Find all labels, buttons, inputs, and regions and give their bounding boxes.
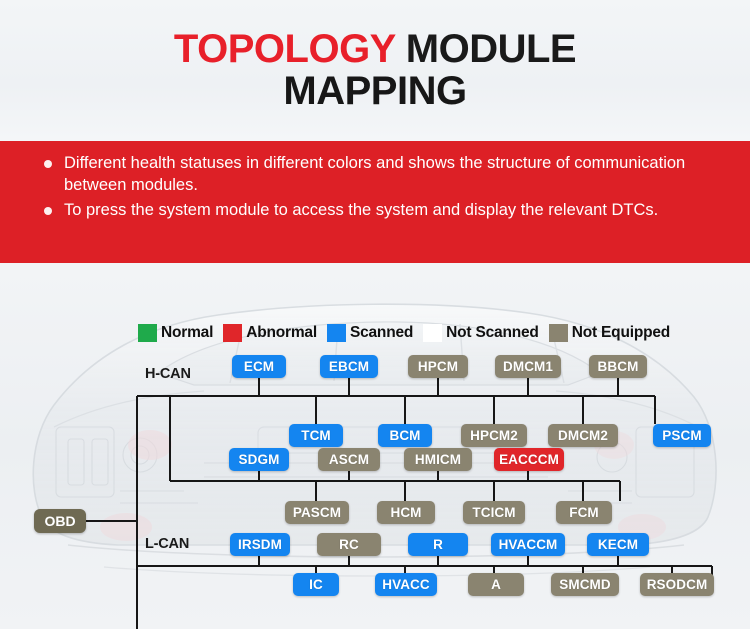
banner-bullet-1-text: Different health statuses in different c… (64, 154, 685, 194)
module-node-hcm[interactable]: HCM (377, 501, 435, 524)
module-node-rsodcm[interactable]: RSODCM (640, 573, 714, 596)
module-node-ic[interactable]: IC (293, 573, 339, 596)
bullet-dot-icon (44, 207, 52, 215)
title-highlight: TOPOLOGY (174, 27, 395, 71)
legend-item-not-equipped: Not Equipped (549, 324, 670, 342)
module-node-smcmd[interactable]: SMCMD (551, 573, 619, 596)
topology-module-mapping-page: TOPOLOGY MODULE MAPPING Different health… (0, 0, 750, 629)
banner-bullet-1: Different health statuses in different c… (44, 153, 716, 197)
module-node-dmcm2[interactable]: DMCM2 (548, 424, 618, 447)
module-node-hpcm2[interactable]: HPCM2 (461, 424, 527, 447)
module-node-sdgm[interactable]: SDGM (229, 448, 289, 471)
page-title-line-1: TOPOLOGY MODULE (174, 29, 576, 70)
module-node-ecm[interactable]: ECM (232, 355, 286, 378)
module-node-eacccm[interactable]: EACCCM (494, 448, 564, 471)
bus-label-l-can: L-CAN (145, 536, 189, 552)
module-node-a[interactable]: A (468, 573, 524, 596)
module-node-rc[interactable]: RC (317, 533, 381, 556)
module-node-hpcm[interactable]: HPCM (408, 355, 468, 378)
legend-label-normal: Normal (161, 324, 213, 342)
legend-swatch-normal (138, 324, 157, 342)
description-banner: Different health statuses in different c… (0, 141, 750, 263)
bullet-dot-icon (44, 160, 52, 168)
legend-item-normal: Normal (138, 324, 213, 342)
title-rest: MODULE (395, 27, 576, 71)
legend-item-not-scanned: Not Scanned (423, 324, 539, 342)
module-node-hvacc[interactable]: HVACC (375, 573, 437, 596)
legend-label-not-scanned: Not Scanned (446, 324, 539, 342)
module-node-ebcm[interactable]: EBCM (320, 355, 378, 378)
module-node-fcm[interactable]: FCM (556, 501, 612, 524)
legend-swatch-not-scanned (423, 324, 442, 342)
module-node-kecm[interactable]: KECM (587, 533, 649, 556)
legend-label-scanned: Scanned (350, 324, 413, 342)
legend-label-abnormal: Abnormal (246, 324, 317, 342)
obd-connector-node[interactable]: OBD (34, 509, 86, 533)
module-node-r[interactable]: R (408, 533, 468, 556)
module-node-hvaccm[interactable]: HVACCM (491, 533, 565, 556)
module-node-pascm[interactable]: PASCM (285, 501, 349, 524)
legend-item-abnormal: Abnormal (223, 324, 317, 342)
banner-bullet-2-text: To press the system module to access the… (64, 201, 658, 219)
module-node-bcm[interactable]: BCM (378, 424, 432, 447)
legend-label-not-equipped: Not Equipped (572, 324, 670, 342)
legend-swatch-abnormal (223, 324, 242, 342)
status-legend: Normal Abnormal Scanned Not Scanned Not … (138, 323, 680, 343)
module-node-pscm[interactable]: PSCM (653, 424, 711, 447)
banner-bullet-2: To press the system module to access the… (44, 200, 716, 222)
legend-item-scanned: Scanned (327, 324, 413, 342)
bus-label-h-can: H-CAN (145, 366, 191, 382)
module-node-ascm[interactable]: ASCM (318, 448, 380, 471)
module-node-tcicm[interactable]: TCICM (463, 501, 525, 524)
module-node-bbcm[interactable]: BBCM (589, 355, 647, 378)
topology-diagram: Normal Abnormal Scanned Not Scanned Not … (0, 263, 750, 629)
legend-swatch-not-equipped (549, 324, 568, 342)
page-title-line-2: MAPPING (283, 70, 466, 112)
module-node-tcm[interactable]: TCM (289, 424, 343, 447)
module-node-irsdm[interactable]: IRSDM (230, 533, 290, 556)
module-node-hmicm[interactable]: HMICM (404, 448, 472, 471)
legend-swatch-scanned (327, 324, 346, 342)
title-block: TOPOLOGY MODULE MAPPING (0, 0, 750, 141)
module-node-dmcm1[interactable]: DMCM1 (495, 355, 561, 378)
